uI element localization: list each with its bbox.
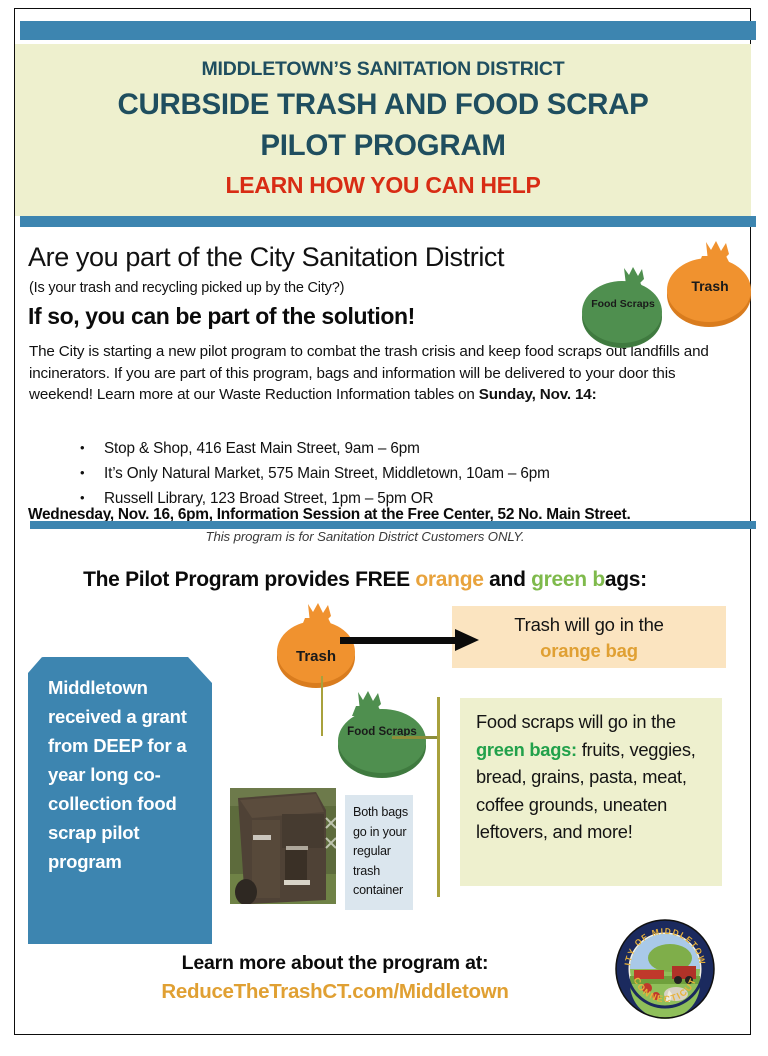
pilot-title-orange: orange [415,568,483,591]
intro-disclaimer: This program is for Sanitation District … [15,529,715,544]
header-bottom-bar [20,216,756,227]
orange-callout-line2: orange bag [452,640,726,662]
green-callout-lead: Food scraps will go in the [476,711,676,732]
city-seal-logo: CITY OF MIDDLETOWN CONNECTICUT [614,918,716,1020]
pilot-trash-bag-icon [272,600,368,692]
connector-vertical-long [437,697,440,897]
header-title-line1: CURBSIDE TRASH AND FOOD SCRAP [15,84,751,125]
green-callout-text: Food scraps will go in the green bags: f… [476,708,712,846]
header-cta: LEARN HOW YOU CAN HELP [15,172,751,199]
trash-container-photo [230,788,336,904]
header-title-line2: PILOT PROGRAM [15,125,751,166]
intro-paragraph-text: The City is starting a new pilot program… [29,343,709,403]
pilot-food-scraps-bag-icon [330,688,434,780]
list-item: It’s Only Natural Market, 575 Main Stree… [72,462,732,485]
footer-learn-more: Learn more about the program at: [100,952,570,975]
footer-url[interactable]: ReduceTheTrashCT.com/Middletown [100,980,570,1004]
list-item: Stop & Shop, 416 East Main Street, 9am –… [72,437,732,460]
pilot-title-green: green b [531,568,605,591]
intro-question: Are you part of the City Sanitation Dist… [28,242,504,273]
green-callout-highlight: green bags: [476,739,577,760]
orange-bag-callout: Trash will go in the orange bag [452,606,726,668]
grant-tag-box: Middletown received a grant from DEEP fo… [28,657,212,944]
arrow-head-icon [455,629,479,651]
intro-paragraph: The City is starting a new pilot program… [29,341,729,406]
connector-vertical-short [321,676,323,736]
pilot-title-mid: and [484,568,532,591]
arrow-shaft-icon [340,637,462,644]
bin-note-text: Both bags go in your regular trash conta… [353,803,409,901]
flyer-page: MIDDLETOWN’S SANITATION DISTRICT CURBSID… [0,0,768,1056]
intro-paragraph-date: Sunday, Nov. 14: [479,386,597,403]
grant-tag-text: Middletown received a grant from DEEP fo… [48,673,198,876]
connector-horizontal [392,736,438,739]
header-title: CURBSIDE TRASH AND FOOD SCRAP PILOT PROG… [15,84,751,166]
pilot-section-title: The Pilot Program provides FREE orange a… [15,568,715,592]
intro-bullet-list: Stop & Shop, 416 East Main Street, 9am –… [72,437,732,512]
header-top-bar [20,21,756,40]
intro-question-sub: (Is your trash and recycling picked up b… [29,280,344,296]
orange-callout-line1: Trash will go in the [452,614,726,636]
trash-bag-icon [660,238,766,330]
section-separator-bar [30,521,756,529]
header-subtitle: MIDDLETOWN’S SANITATION DISTRICT [15,58,751,81]
intro-answer: If so, you can be part of the solution! [28,303,415,330]
green-bag-callout: Food scraps will go in the green bags: f… [460,698,722,886]
bin-note-box: Both bags go in your regular trash conta… [345,795,413,910]
pilot-title-prefix: The Pilot Program provides FREE [83,568,415,591]
pilot-title-suffix: ags: [605,568,647,591]
